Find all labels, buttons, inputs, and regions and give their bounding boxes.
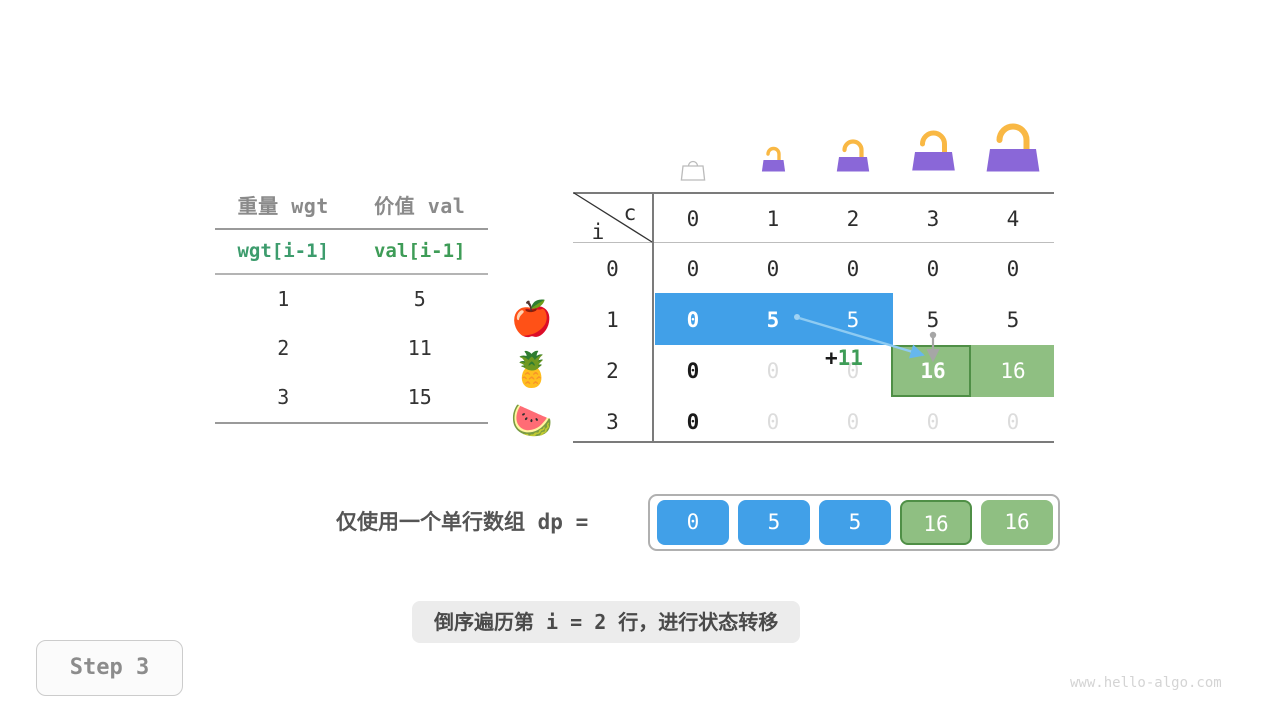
matrix-col-header-3: 3 xyxy=(893,207,973,231)
spec-subheader-val: val[i-1] xyxy=(352,230,489,273)
spec-cell-wgt: 1 xyxy=(215,275,352,324)
matrix-cell-0-2: 0 xyxy=(813,257,893,281)
watermelon-icon: 🍉 xyxy=(510,399,554,443)
watermark: www.hello-algo.com xyxy=(1070,675,1222,691)
bag-empty-icon xyxy=(678,156,708,186)
dp-array-label: 仅使用一个单行数组 dp = xyxy=(336,506,588,536)
bag-size-3-icon xyxy=(906,126,961,178)
spec-cell-wgt: 2 xyxy=(215,324,352,373)
spec-table-row: 3 15 xyxy=(215,373,488,422)
matrix-cell-3-3: 0 xyxy=(893,410,973,434)
matrix-col-header-0: 0 xyxy=(653,207,733,231)
dp-array-cell-1[interactable]: 5 xyxy=(738,500,810,545)
matrix-cell-1-1: 5 xyxy=(733,308,813,332)
matrix-cell-2-3: 16 xyxy=(893,359,973,383)
dp-array-cell-0[interactable]: 0 xyxy=(657,500,729,545)
dp-matrix: c i 0 1 2 3 4 0 1 2 3 0 0 0 0 0 0 5 5 5 … xyxy=(573,192,1054,442)
bag-size-2-icon xyxy=(831,136,875,178)
matrix-rule-header xyxy=(573,242,1054,243)
matrix-col-header-2: 2 xyxy=(813,207,893,231)
matrix-corner-row-label: i xyxy=(585,220,611,244)
dp-array-cell-4[interactable]: 16 xyxy=(981,500,1053,545)
matrix-col-header-4: 4 xyxy=(973,207,1053,231)
caption-banner: 倒序遍历第 i = 2 行，进行状态转移 xyxy=(412,601,800,643)
spec-cell-val: 5 xyxy=(352,275,489,324)
apple-icon: 🍎 xyxy=(510,297,554,341)
step-badge: Step 3 xyxy=(36,640,183,696)
matrix-row-header-2: 2 xyxy=(573,359,652,383)
plus-value: 11 xyxy=(838,346,863,370)
matrix-cell-0-4: 0 xyxy=(973,257,1053,281)
matrix-cell-2-4: 16 xyxy=(973,359,1053,383)
matrix-cell-1-3: 5 xyxy=(893,308,973,332)
weight-value-table: 重量 wgt 价值 val wgt[i-1] val[i-1] 1 5 2 11… xyxy=(215,190,488,424)
spec-header-wgt: 重量 wgt xyxy=(215,190,352,228)
spec-cell-val: 15 xyxy=(352,373,489,422)
spec-table-row: 1 5 xyxy=(215,275,488,324)
matrix-cell-3-4: 0 xyxy=(973,410,1053,434)
matrix-rule-bottom xyxy=(573,441,1054,443)
matrix-row-header-0: 0 xyxy=(573,257,652,281)
matrix-col-header-1: 1 xyxy=(733,207,813,231)
matrix-cell-3-0: 0 xyxy=(653,410,733,434)
spec-cell-val: 11 xyxy=(352,324,489,373)
matrix-cell-0-1: 0 xyxy=(733,257,813,281)
matrix-corner-col-label: c xyxy=(617,201,643,225)
matrix-cell-1-0: 0 xyxy=(653,308,733,332)
spec-table-subheader-row: wgt[i-1] val[i-1] xyxy=(215,230,488,273)
matrix-cell-1-4: 5 xyxy=(973,308,1053,332)
gray-arrow-origin-dot xyxy=(930,332,936,338)
matrix-cell-0-3: 0 xyxy=(893,257,973,281)
bag-size-4-icon xyxy=(980,118,1046,180)
dp-array-cell-3[interactable]: 16 xyxy=(900,500,972,545)
matrix-cell-0-0: 0 xyxy=(653,257,733,281)
plus-sign: + xyxy=(825,346,838,370)
matrix-cell-2-0: 0 xyxy=(653,359,733,383)
matrix-cell-2-1: 0 xyxy=(733,359,813,383)
spec-cell-wgt: 3 xyxy=(215,373,352,422)
bag-size-1-icon xyxy=(757,144,790,178)
spec-subheader-wgt: wgt[i-1] xyxy=(215,230,352,273)
matrix-cell-3-1: 0 xyxy=(733,410,813,434)
dp-array-cell-2[interactable]: 5 xyxy=(819,500,891,545)
spec-table-header-row: 重量 wgt 价值 val xyxy=(215,190,488,228)
slide-canvas: 重量 wgt 价值 val wgt[i-1] val[i-1] 1 5 2 11… xyxy=(0,0,1280,720)
pineapple-icon: 🍍 xyxy=(510,348,554,392)
matrix-rule-top xyxy=(573,192,1054,194)
spec-table-rule-bottom xyxy=(215,422,488,424)
matrix-cell-3-2: 0 xyxy=(813,410,893,434)
matrix-row-header-1: 1 xyxy=(573,308,652,332)
matrix-cell-1-2: 5 xyxy=(813,308,893,332)
spec-table-row: 2 11 xyxy=(215,324,488,373)
spec-header-val: 价值 val xyxy=(352,190,489,228)
matrix-row-header-3: 3 xyxy=(573,410,652,434)
plus-value-annotation: +11 xyxy=(825,346,863,370)
